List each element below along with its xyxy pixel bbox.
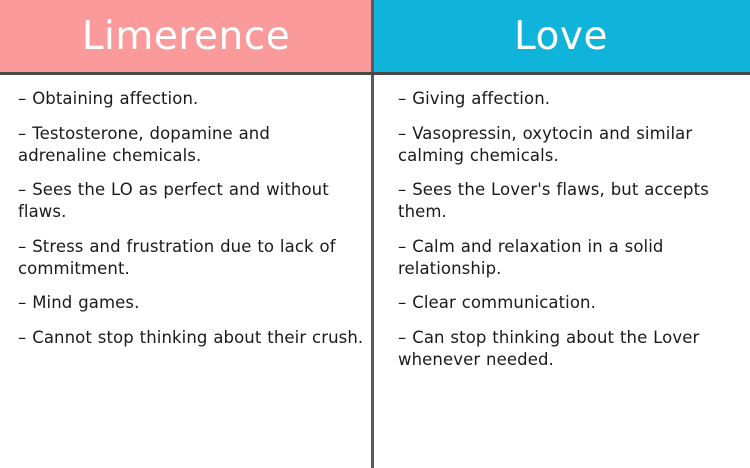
header-cell-limerence: Limerence <box>0 0 372 74</box>
header-cell-love: Love <box>372 0 750 74</box>
page-title-limerence: Limerence <box>82 17 290 56</box>
list-item: – Vasopressin, oxytocin and similar calm… <box>398 123 740 167</box>
bullet-list-limerence: – Obtaining affection. – Testosterone, d… <box>18 88 364 349</box>
body-cell-limerence: – Obtaining affection. – Testosterone, d… <box>0 74 372 468</box>
column-divider <box>371 0 374 468</box>
list-item: – Cannot stop thinking about their crush… <box>18 327 364 349</box>
list-item: – Clear communication. <box>398 292 740 314</box>
list-item: – Mind games. <box>18 292 364 314</box>
body-cell-love: – Giving affection. – Vasopressin, oxyto… <box>372 74 750 468</box>
list-item: – Testosterone, dopamine and adrenaline … <box>18 123 364 167</box>
list-item: – Can stop thinking about the Lover when… <box>398 327 740 371</box>
list-item: – Obtaining affection. <box>18 88 364 110</box>
page-title-love: Love <box>514 17 608 56</box>
list-item: – Calm and relaxation in a solid relatio… <box>398 236 740 280</box>
list-item: – Giving affection. <box>398 88 740 110</box>
table-body-row: – Obtaining affection. – Testosterone, d… <box>0 74 750 468</box>
list-item: – Stress and frustration due to lack of … <box>18 236 364 280</box>
list-item: – Sees the LO as perfect and without fla… <box>18 179 364 223</box>
header-divider-rule <box>0 72 750 75</box>
bullet-list-love: – Giving affection. – Vasopressin, oxyto… <box>398 88 740 371</box>
table-header-row: Limerence Love <box>0 0 750 74</box>
comparison-table: Limerence Love – Obtaining affection. – … <box>0 0 750 468</box>
list-item: – Sees the Lover's flaws, but accepts th… <box>398 179 740 223</box>
